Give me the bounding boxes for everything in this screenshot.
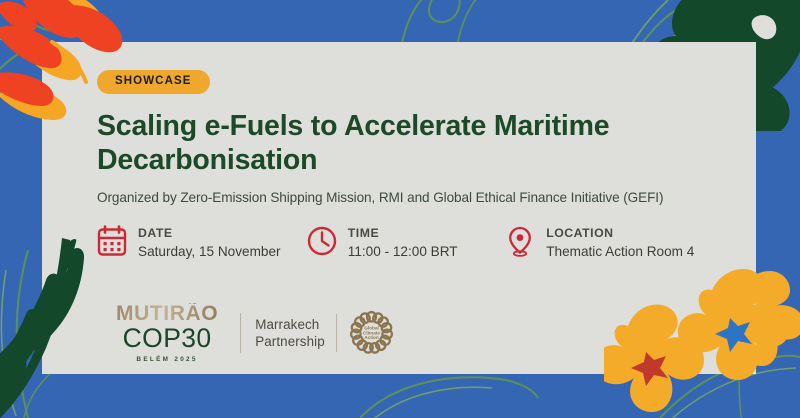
marrakech-divider [336, 314, 337, 352]
cop30-name-text: COP30 [116, 325, 218, 353]
event-title: Scaling e-Fuels to Accelerate Maritime D… [97, 109, 697, 178]
event-poster: SHOWCASE Scaling e-Fuels to Accelerate M… [0, 0, 800, 418]
meta-value-date: Saturday, 15 November [138, 244, 281, 260]
event-organizers: Organized by Zero-Emission Shipping Miss… [97, 190, 732, 205]
calendar-icon [97, 225, 127, 257]
cop30-belem-text: BELÉM 2025 [116, 356, 218, 363]
logo-strip: MUTIRÃO COP30 BELÉM 2025 Marrakech Partn… [116, 303, 395, 363]
meta-value-location: Thematic Action Room 4 [546, 244, 694, 260]
meta-item-time: TIME 11:00 - 12:00 BRT [307, 225, 505, 260]
meta-label-location: LOCATION [546, 226, 694, 241]
showcase-badge: SHOWCASE [97, 70, 210, 94]
card-content: SHOWCASE Scaling e-Fuels to Accelerate M… [97, 70, 732, 261]
marrakech-line-2: Partnership [255, 333, 325, 350]
meta-text-date: DATE Saturday, 15 November [138, 225, 281, 260]
meta-item-location: LOCATION Thematic Action Room 4 [505, 225, 732, 260]
meta-value-time: 11:00 - 12:00 BRT [348, 244, 458, 260]
marrakech-partnership-logo: Marrakech Partnership [255, 309, 395, 356]
cop30-mutirao-text: MUTIRÃO [116, 303, 218, 324]
cop30-logo: MUTIRÃO COP30 BELÉM 2025 [116, 303, 218, 363]
location-pin-icon [505, 225, 535, 257]
marrakech-partnership-text: Marrakech Partnership [255, 316, 325, 350]
global-climate-action-emblem: Global Climate Action [348, 309, 395, 356]
meta-label-date: DATE [138, 226, 281, 241]
meta-text-time: TIME 11:00 - 12:00 BRT [348, 225, 458, 260]
meta-text-location: LOCATION Thematic Action Room 4 [546, 225, 694, 260]
svg-text:Action: Action [364, 335, 379, 340]
clock-icon [307, 225, 337, 257]
logo-divider [240, 313, 241, 353]
meta-label-time: TIME [348, 226, 458, 241]
event-meta-row: DATE Saturday, 15 November TIME 11:0 [97, 225, 732, 260]
marrakech-line-1: Marrakech [255, 316, 325, 333]
meta-item-date: DATE Saturday, 15 November [97, 225, 307, 260]
